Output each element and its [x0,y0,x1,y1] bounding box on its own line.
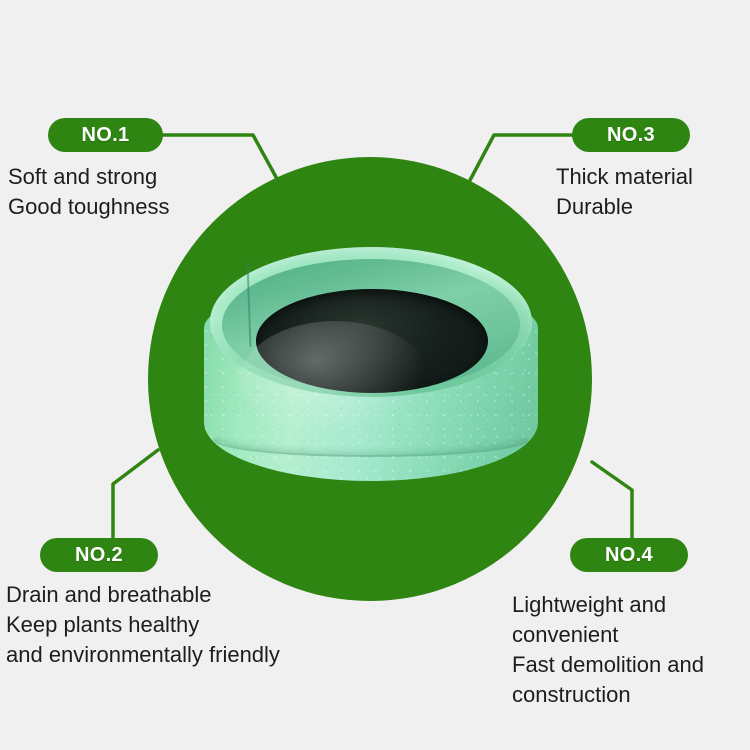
grow-bag-highlight [240,321,430,439]
feature-badge-4: NO.4 [570,538,688,572]
feature-caption-3: Thick material Durable [556,162,693,222]
connector-line-4 [592,462,632,538]
connector-line-2 [113,450,158,538]
feature-caption-1: Soft and strong Good toughness [8,162,169,222]
feature-badge-1: NO.1 [48,118,163,152]
feature-badge-2: NO.2 [40,538,158,572]
feature-caption-4: Lightweight and convenient Fast demoliti… [512,590,704,710]
product-image-fabric-grow-bag [204,247,538,512]
product-feature-infographic: NO.1 Soft and strong Good toughness NO.3… [0,0,750,750]
product-spotlight-circle [148,157,592,601]
feature-badge-3: NO.3 [572,118,690,152]
feature-caption-2: Drain and breathable Keep plants healthy… [6,580,280,670]
